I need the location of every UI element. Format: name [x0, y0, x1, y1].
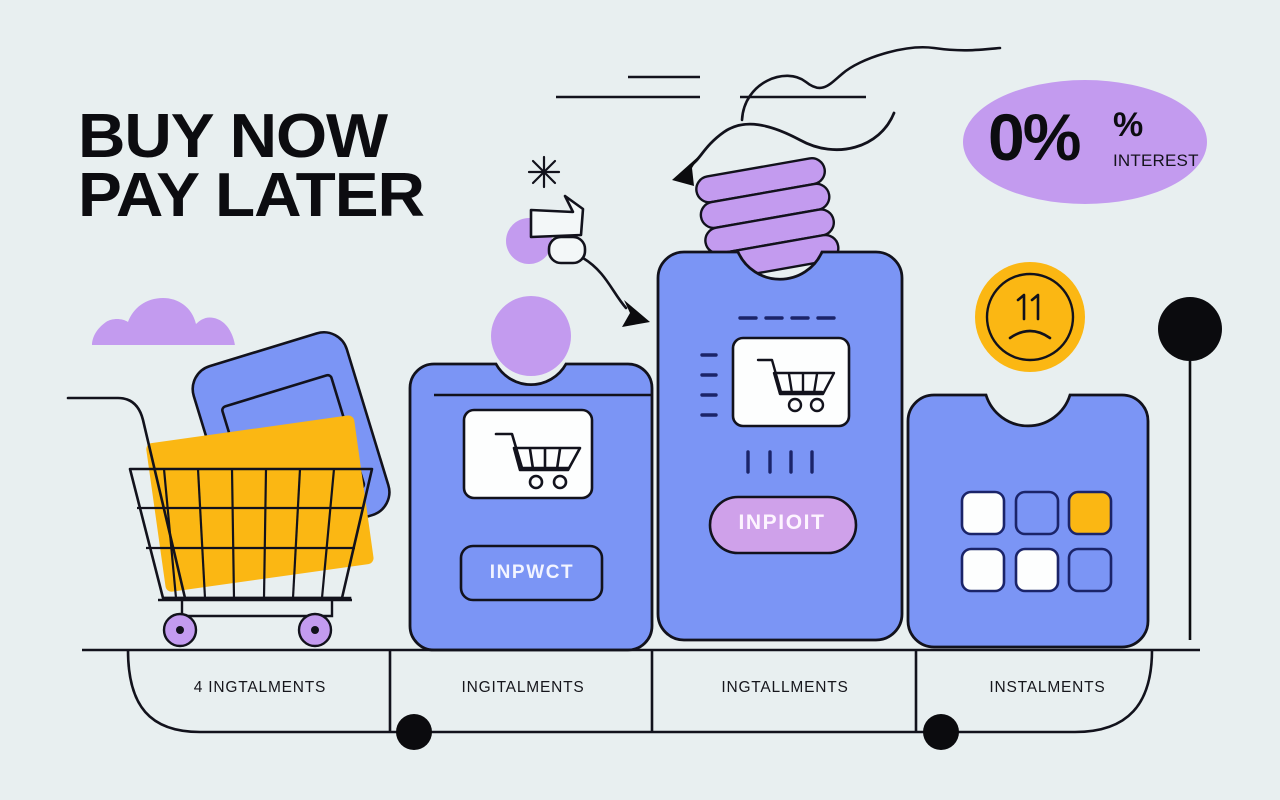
cart-wheel-left [164, 614, 196, 646]
timeline-dot-2 [923, 714, 959, 750]
phone-1-button-label[interactable]: INPWCT [462, 562, 602, 584]
cloud-shape [75, 298, 235, 345]
grid-tile-2[interactable] [1016, 492, 1058, 534]
phone-card-2[interactable] [658, 252, 902, 640]
coin-face-icon [975, 262, 1085, 372]
shopping-cart-illustration [68, 326, 395, 646]
grid-tile-5[interactable] [1016, 549, 1058, 591]
badge-percent: 0% [988, 104, 1079, 170]
phone-1-screen-card [464, 410, 592, 498]
phone-2-button-label[interactable]: INPIOIT [712, 511, 852, 535]
step-label-1: 4 INGTALMENTS [135, 679, 385, 697]
timeline-baseline [82, 650, 1200, 750]
badge-interest-label: INTEREST [1113, 152, 1199, 169]
grid-tile-1[interactable] [962, 492, 1004, 534]
cart-wheel-right [299, 614, 331, 646]
curved-arrow-down-right [583, 258, 650, 327]
step-label-3: INGTALLMENTS [660, 679, 910, 697]
phone-card-1[interactable] [410, 296, 652, 650]
phone-card-3[interactable] [908, 395, 1148, 647]
grid-tile-4[interactable] [962, 549, 1004, 591]
timeline-dot-1 [396, 714, 432, 750]
page-title: BUY NOW PAY LATER [78, 108, 544, 226]
black-dot-top-right [1158, 297, 1222, 640]
squiggle-line [742, 47, 1000, 120]
badge-percent-small: % [1113, 108, 1143, 142]
grid-tile-6[interactable] [1069, 549, 1111, 591]
phone-1-accent-circle [491, 296, 571, 376]
grid-tile-3[interactable] [1069, 492, 1111, 534]
step-label-2: INGITALMENTS [398, 679, 648, 697]
illustration-canvas: BUY NOW PAY LATER 0% % INTEREST INPWCT I… [0, 0, 1280, 800]
step-label-4: INSTALMENTS [925, 679, 1170, 697]
